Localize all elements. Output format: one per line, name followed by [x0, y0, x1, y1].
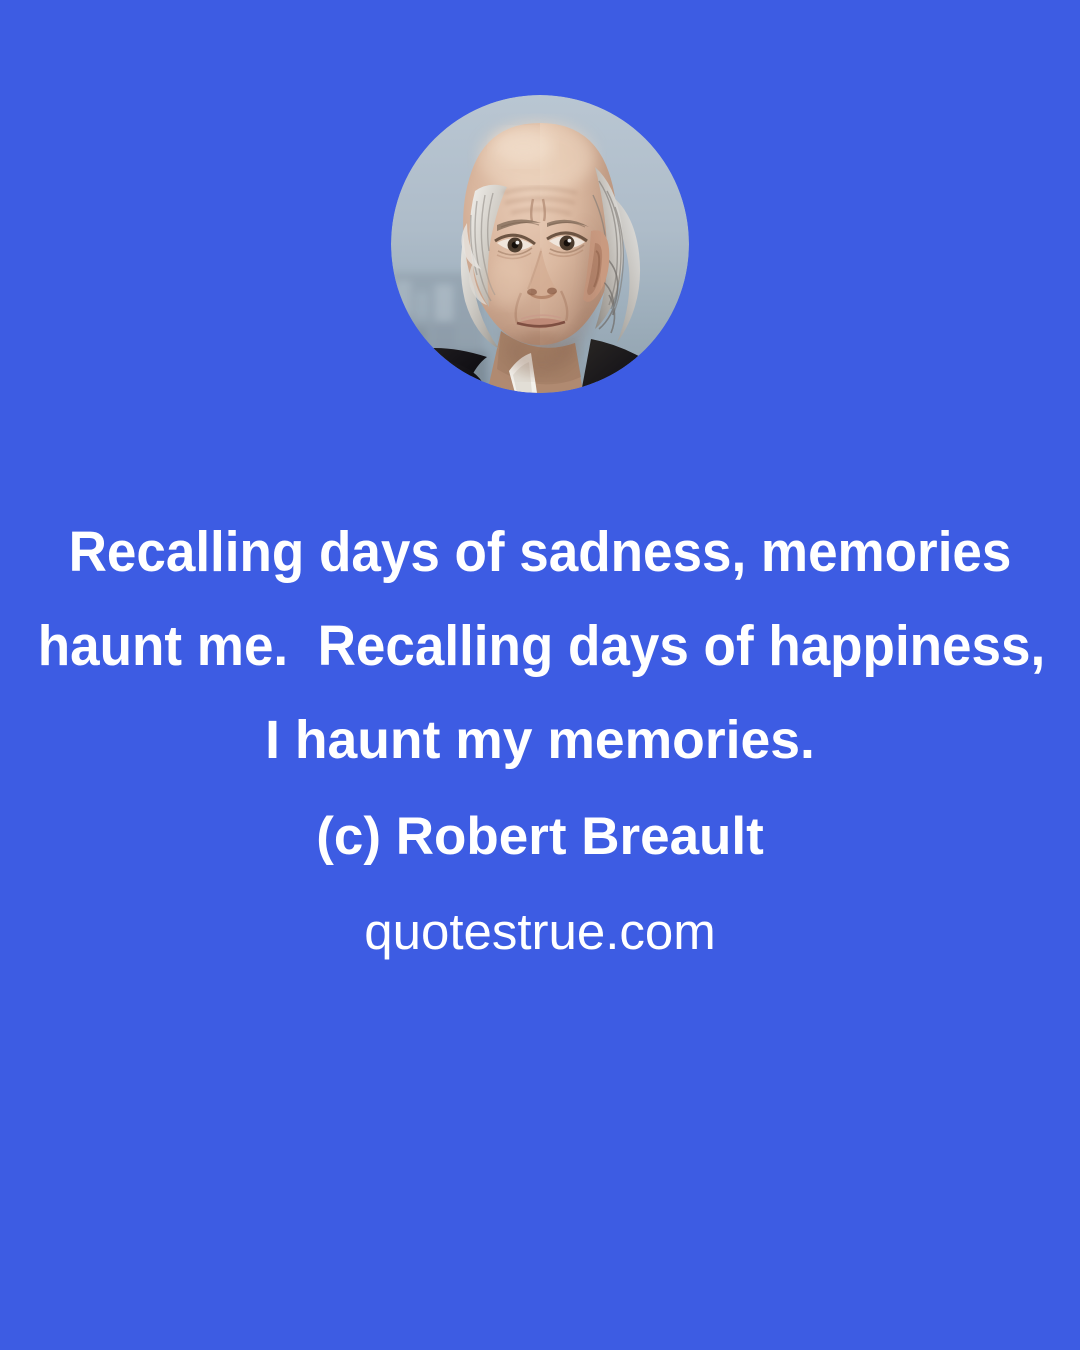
portrait-photo — [391, 95, 689, 393]
quote-line-1: Recalling days of sadness, memories — [38, 505, 1042, 599]
avatar — [391, 95, 689, 393]
quote-author: (c) Robert Breault — [0, 806, 1080, 868]
quote-line-3: I haunt my memories. — [5, 693, 1074, 787]
quote-card: Recalling days of sadness, memories haun… — [0, 0, 1080, 1350]
quote-text: Recalling days of sadness, memories haun… — [0, 505, 1080, 787]
quote-line-2: haunt me. Recalling days of happiness, — [38, 599, 1042, 693]
source-website: quotestrue.com — [0, 901, 1080, 963]
